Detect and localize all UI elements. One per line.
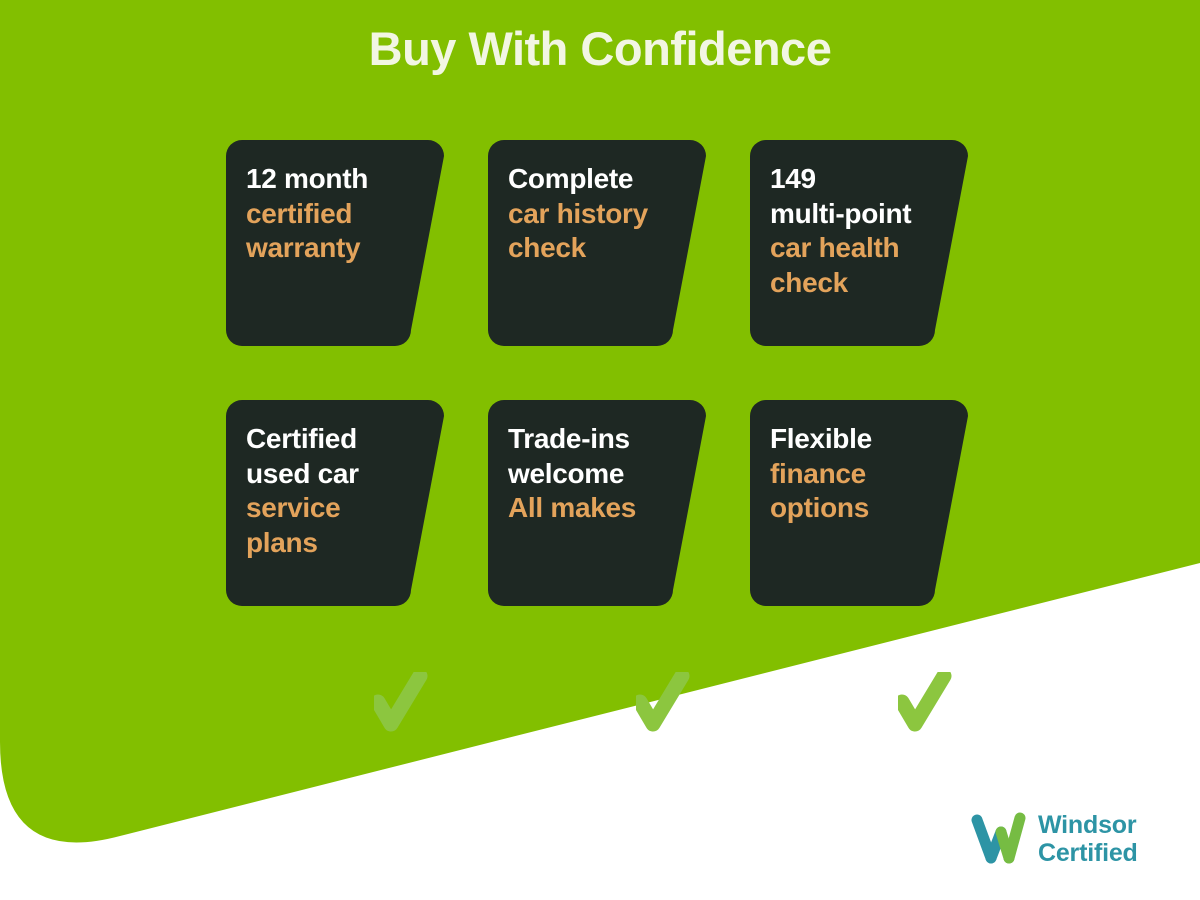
card-headline: 149 [770,162,940,197]
card-subline-1: car health [770,231,940,266]
card-text-block: Flexible finance options [770,422,940,526]
feature-card-multi-point-health-check[interactable]: 149 multi-point car health check [750,140,968,346]
card-subline-1: certified [246,197,416,232]
card-subline-1: car history [508,197,678,232]
card-text-block: Certified used car service plans [246,422,416,561]
card-headline-2: multi-point [770,197,940,232]
card-headline: Flexible [770,422,940,457]
windsor-w-icon [970,810,1028,868]
card-text-block: 149 multi-point car health check [770,162,940,301]
feature-card-service-plans[interactable]: Certified used car service plans [226,400,444,606]
logo-line-2: Certified [1038,839,1138,867]
card-headline: Complete [508,162,678,197]
card-headline: Certified [246,422,416,457]
card-headline-2: welcome [508,457,678,492]
card-subline-2: warranty [246,231,416,266]
feature-card-finance-options[interactable]: Flexible finance options [750,400,968,606]
feature-card-car-history-check[interactable]: Complete car history check [488,140,706,346]
card-subline-1: finance [770,457,940,492]
card-headline-2: used car [246,457,416,492]
check-mark-icon [636,672,690,734]
promo-banner: Buy With Confidence 12 month certified w… [0,0,1200,900]
card-text-block: 12 month certified warranty [246,162,416,266]
card-subline-1: All makes [508,491,678,526]
card-headline: Trade-ins [508,422,678,457]
page-title: Buy With Confidence [0,22,1200,76]
card-subline-2: plans [246,526,416,561]
card-headline: 12 month [246,162,416,197]
check-mark-icon [374,672,428,734]
logo-line-1: Windsor [1038,811,1138,839]
card-subline-2: check [508,231,678,266]
card-subline-2: check [770,266,940,301]
feature-card-trade-ins[interactable]: Trade-ins welcome All makes [488,400,706,606]
card-subline-2: options [770,491,940,526]
check-mark-icon [898,672,952,734]
card-subline-1: service [246,491,416,526]
logo-wordmark: Windsor Certified [1038,811,1138,867]
card-text-block: Trade-ins welcome All makes [508,422,678,526]
card-text-block: Complete car history check [508,162,678,266]
brand-logo[interactable]: Windsor Certified [970,810,1138,868]
feature-card-certified-warranty[interactable]: 12 month certified warranty [226,140,444,346]
